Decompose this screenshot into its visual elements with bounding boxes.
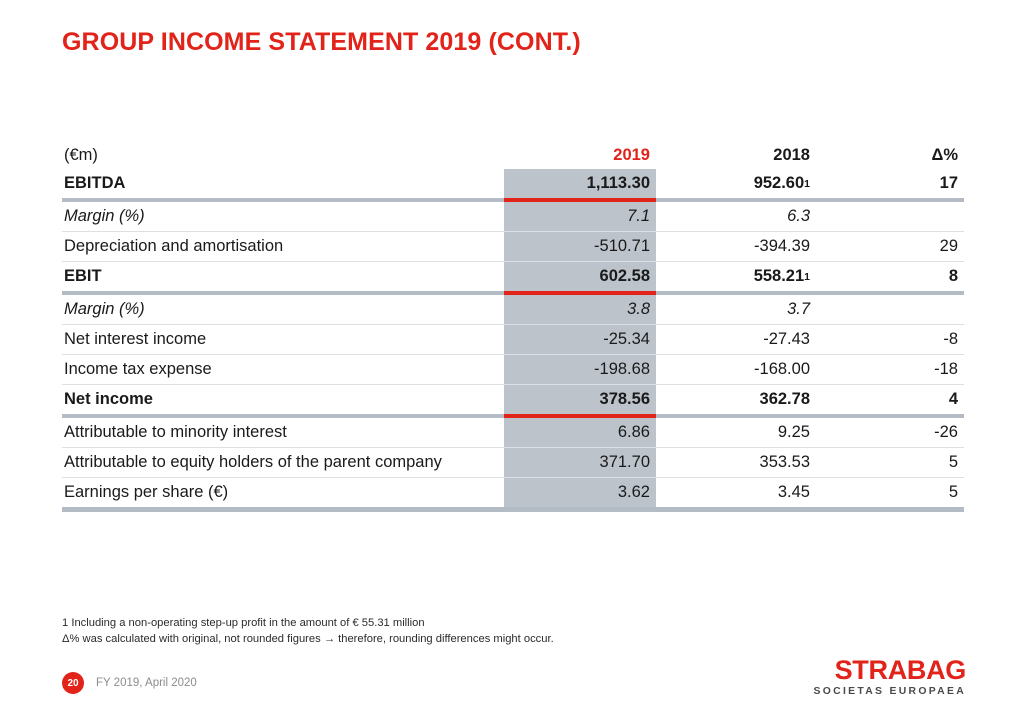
table-row: Attributable to minority interest6.869.2… <box>62 416 964 448</box>
value-2019: -510.71 <box>504 232 656 261</box>
value-2018-wrap: 558.211 <box>656 262 816 291</box>
cell-2019: 371.70 <box>504 448 656 478</box>
cell-2018: 3.45 <box>656 478 816 510</box>
cell-2018: 6.3 <box>656 200 816 232</box>
table-row: Attributable to equity holders of the pa… <box>62 448 964 478</box>
row-label: Net income <box>62 385 504 414</box>
table-header-row: (€m) 2019 2018 Δ% <box>62 141 964 169</box>
value-delta: -8 <box>816 325 964 354</box>
value-2018: 6.3 <box>787 208 810 225</box>
header-2019: 2019 <box>504 141 656 169</box>
value-2018: 353.53 <box>760 454 810 471</box>
value-2018: -394.39 <box>754 238 810 255</box>
cell-2018: -168.00 <box>656 355 816 385</box>
value-2018-wrap: 353.53 <box>656 448 816 477</box>
value-2019: 3.62 <box>504 478 656 507</box>
cell-2019: 1,113.30 <box>504 169 656 200</box>
footnote-1: 1 Including a non-operating step-up prof… <box>62 615 554 631</box>
value-delta: 29 <box>816 232 964 261</box>
cell-2019: 3.8 <box>504 293 656 325</box>
value-2019: 1,113.30 <box>504 169 656 198</box>
cell-delta <box>816 293 964 325</box>
value-2018-wrap: -394.39 <box>656 232 816 261</box>
row-label-cell: Earnings per share (€) <box>62 478 504 510</box>
header-2019-label: 2019 <box>504 141 656 169</box>
header-unit-label: (€m) <box>62 141 504 169</box>
table-row: Margin (%)3.83.7 <box>62 293 964 325</box>
cell-2018: -394.39 <box>656 232 816 262</box>
value-2018-wrap: 3.45 <box>656 478 816 507</box>
value-2019: 378.56 <box>504 385 656 414</box>
header-unit: (€m) <box>62 141 504 169</box>
row-label: EBITDA <box>62 169 504 198</box>
row-label: Net interest income <box>62 325 504 354</box>
cell-delta: 8 <box>816 262 964 294</box>
footnote-2: Δ% was calculated with original, not rou… <box>62 631 554 647</box>
value-2019: 3.8 <box>504 295 656 324</box>
value-2019: -25.34 <box>504 325 656 354</box>
cell-2019: 7.1 <box>504 200 656 232</box>
table-row: EBIT602.58558.2118 <box>62 262 964 294</box>
value-2018-wrap: 6.3 <box>656 202 816 231</box>
income-statement-table: (€m) 2019 2018 Δ% EBITDA1,113.30952.6011… <box>62 141 964 512</box>
value-delta: 4 <box>816 385 964 414</box>
cell-2019: -510.71 <box>504 232 656 262</box>
value-2018: 3.7 <box>787 301 810 318</box>
cell-2018: 353.53 <box>656 448 816 478</box>
logo-tagline: SOCIETAS EUROPAEA <box>814 687 966 697</box>
row-label: Attributable to equity holders of the pa… <box>62 448 504 477</box>
value-2019: 6.86 <box>504 418 656 447</box>
table-row: Earnings per share (€)3.623.455 <box>62 478 964 510</box>
row-label: Attributable to minority interest <box>62 418 504 447</box>
cell-delta: 5 <box>816 478 964 510</box>
row-label-cell: Depreciation and amortisation <box>62 232 504 262</box>
row-label: Margin (%) <box>62 202 504 231</box>
table-row: Net income378.56362.784 <box>62 385 964 417</box>
cell-delta: 29 <box>816 232 964 262</box>
value-2019: -198.68 <box>504 355 656 384</box>
cell-2019: -198.68 <box>504 355 656 385</box>
value-2018-wrap: -27.43 <box>656 325 816 354</box>
cell-delta <box>816 200 964 232</box>
value-2018-wrap: 952.601 <box>656 169 816 198</box>
table-row: Margin (%)7.16.3 <box>62 200 964 232</box>
cell-delta: -18 <box>816 355 964 385</box>
row-label-cell: Margin (%) <box>62 293 504 325</box>
value-2019: 602.58 <box>504 262 656 291</box>
cell-delta: 5 <box>816 448 964 478</box>
table-body: EBITDA1,113.30952.60117Margin (%)7.16.3D… <box>62 169 964 510</box>
cell-2019: 378.56 <box>504 385 656 417</box>
cell-delta: -8 <box>816 325 964 355</box>
header-2018-label: 2018 <box>656 141 816 169</box>
value-delta: -26 <box>816 418 964 447</box>
header-delta: Δ% <box>816 141 964 169</box>
row-label: Income tax expense <box>62 355 504 384</box>
value-2018-wrap: 3.7 <box>656 295 816 324</box>
value-2018: -27.43 <box>763 331 810 348</box>
value-delta: 5 <box>816 478 964 507</box>
value-delta <box>816 295 964 324</box>
value-2018: 558.21 <box>754 268 804 285</box>
page-number-badge: 20 <box>62 672 84 694</box>
cell-2018: 362.78 <box>656 385 816 417</box>
value-2018: -168.00 <box>754 361 810 378</box>
cell-2018: 9.25 <box>656 416 816 448</box>
value-delta: 5 <box>816 448 964 477</box>
value-2018: 362.78 <box>760 391 810 408</box>
header-delta-label: Δ% <box>816 141 964 169</box>
value-delta: 8 <box>816 262 964 291</box>
row-label-cell: Income tax expense <box>62 355 504 385</box>
value-2018-wrap: 362.78 <box>656 385 816 414</box>
row-label-cell: Net income <box>62 385 504 417</box>
cell-2019: 3.62 <box>504 478 656 510</box>
cell-delta: 17 <box>816 169 964 200</box>
row-label: Margin (%) <box>62 295 504 324</box>
row-label-cell: Net interest income <box>62 325 504 355</box>
footnotes: 1 Including a non-operating step-up prof… <box>62 615 554 647</box>
row-label-cell: Margin (%) <box>62 200 504 232</box>
table-row: Net interest income-25.34-27.43-8 <box>62 325 964 355</box>
cell-2018: 3.7 <box>656 293 816 325</box>
value-delta: -18 <box>816 355 964 384</box>
logo-wordmark: STRABAG <box>814 657 966 684</box>
value-2018: 3.45 <box>778 484 810 501</box>
value-delta: 17 <box>816 169 964 198</box>
strabag-logo: STRABAG SOCIETAS EUROPAEA <box>814 657 966 697</box>
value-2018: 952.60 <box>754 175 804 192</box>
table-row: Depreciation and amortisation-510.71-394… <box>62 232 964 262</box>
value-2018: 9.25 <box>778 424 810 441</box>
row-label: Earnings per share (€) <box>62 478 504 507</box>
cell-2019: 602.58 <box>504 262 656 294</box>
row-label-cell: Attributable to equity holders of the pa… <box>62 448 504 478</box>
page-title: GROUP INCOME STATEMENT 2019 (CONT.) <box>62 28 581 57</box>
cell-2019: 6.86 <box>504 416 656 448</box>
header-2018: 2018 <box>656 141 816 169</box>
cell-2018: 952.601 <box>656 169 816 200</box>
row-label-cell: EBIT <box>62 262 504 294</box>
cell-delta: 4 <box>816 385 964 417</box>
cell-delta: -26 <box>816 416 964 448</box>
cell-2019: -25.34 <box>504 325 656 355</box>
value-delta <box>816 202 964 231</box>
row-label: Depreciation and amortisation <box>62 232 504 261</box>
value-2018-wrap: 9.25 <box>656 418 816 447</box>
row-label-cell: Attributable to minority interest <box>62 416 504 448</box>
value-2018-wrap: -168.00 <box>656 355 816 384</box>
row-label-cell: EBITDA <box>62 169 504 200</box>
cell-2018: 558.211 <box>656 262 816 294</box>
table-row: Income tax expense-198.68-168.00-18 <box>62 355 964 385</box>
row-label: EBIT <box>62 262 504 291</box>
table-row: EBITDA1,113.30952.60117 <box>62 169 964 200</box>
value-2019: 371.70 <box>504 448 656 477</box>
value-2019: 7.1 <box>504 202 656 231</box>
footer-caption: FY 2019, April 2020 <box>96 677 197 689</box>
cell-2018: -27.43 <box>656 325 816 355</box>
